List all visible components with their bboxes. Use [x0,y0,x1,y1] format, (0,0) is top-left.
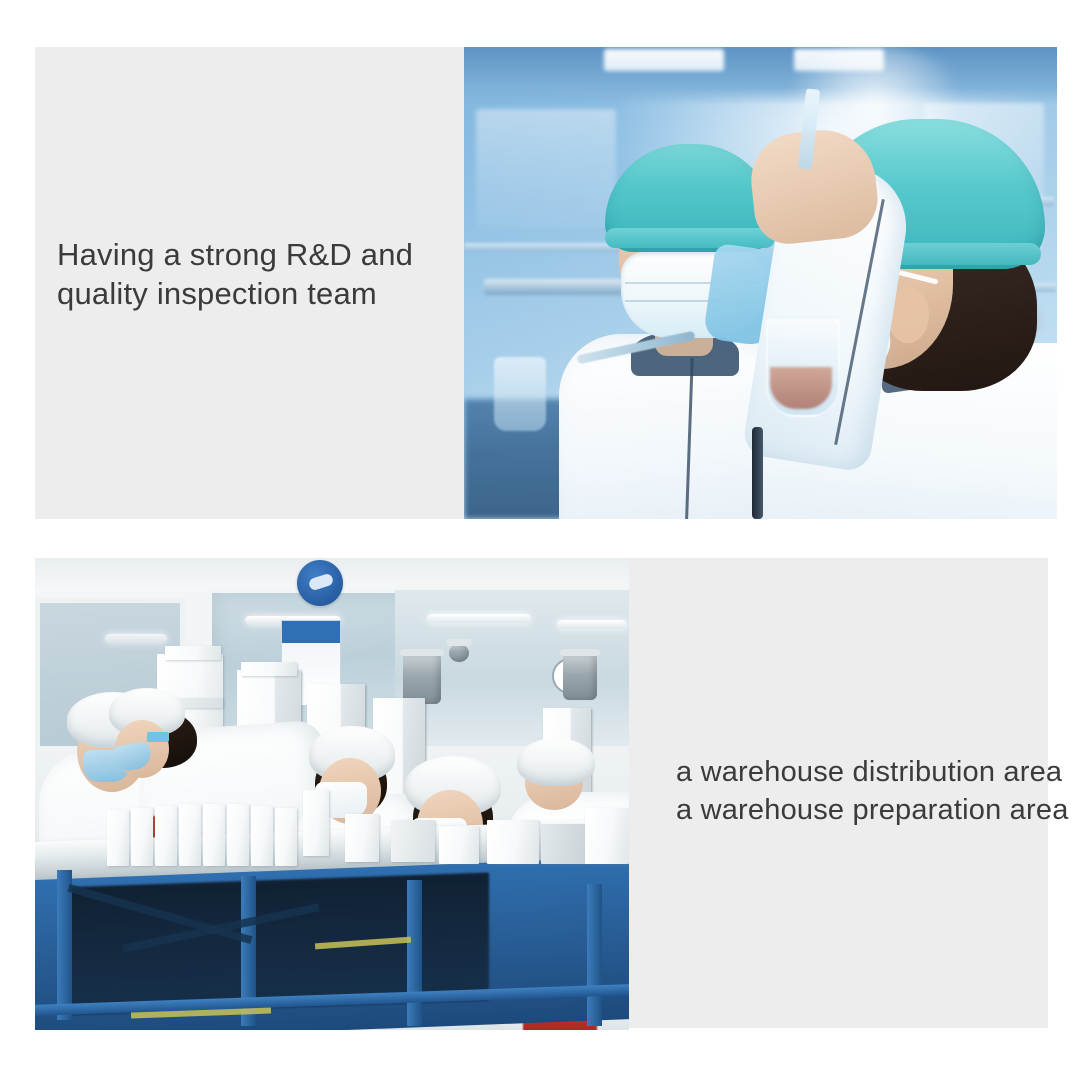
product-box [439,826,479,864]
caption-panel-warehouse: a warehouse distribution area a warehous… [629,558,1048,1028]
ceiling-light-icon [105,634,167,643]
small-beaker-icon [494,357,546,431]
table-leg [587,884,602,1026]
lab-scene [464,47,1057,519]
product-box [541,824,587,864]
steel-lid-icon [449,644,469,662]
product-box [487,820,539,864]
flask-liquid [770,367,832,409]
product-box [303,790,329,856]
product-box [585,808,629,864]
product-box [179,804,201,866]
caption-line-2: a warehouse preparation area [676,791,1056,829]
product-box [345,814,379,862]
product-box [251,806,273,866]
section-rd-quality-inspection: Having a strong R&D and quality inspecti… [35,47,1057,519]
blue-circle-sign-icon [297,560,343,606]
caption-line-1: a warehouse distribution area [676,753,1056,791]
caption-line-1: Having a strong R&D and [57,235,457,274]
caption-text-rd: Having a strong R&D and quality inspecti… [57,235,457,313]
product-box [391,820,435,862]
product-box [227,804,249,866]
warehouse-packing-photo [35,558,629,1030]
section-warehouse-areas: a warehouse distribution area a warehous… [35,558,1048,1030]
ceiling-light-icon [557,620,627,629]
caption-panel-rd: Having a strong R&D and quality inspecti… [35,47,464,519]
caption-text-warehouse: a warehouse distribution area a warehous… [676,753,1056,829]
warehouse-scene [35,558,629,1030]
table-leg [407,880,422,1026]
product-box [107,810,129,866]
promo-collage-page: Having a strong R&D and quality inspecti… [0,0,1080,1080]
steel-container-icon [403,654,441,704]
ceiling-light-icon [427,614,531,623]
product-box [155,806,177,866]
product-box [131,808,153,866]
lab-inspection-photo [464,47,1057,519]
product-box [203,804,225,866]
steel-container-icon [563,654,597,700]
mask-strap [147,732,169,742]
product-box [275,808,297,866]
hairnet-icon [517,738,595,786]
caption-line-2: quality inspection team [57,274,457,313]
equipment-pole [752,427,763,519]
ceiling-light-icon [604,49,724,71]
